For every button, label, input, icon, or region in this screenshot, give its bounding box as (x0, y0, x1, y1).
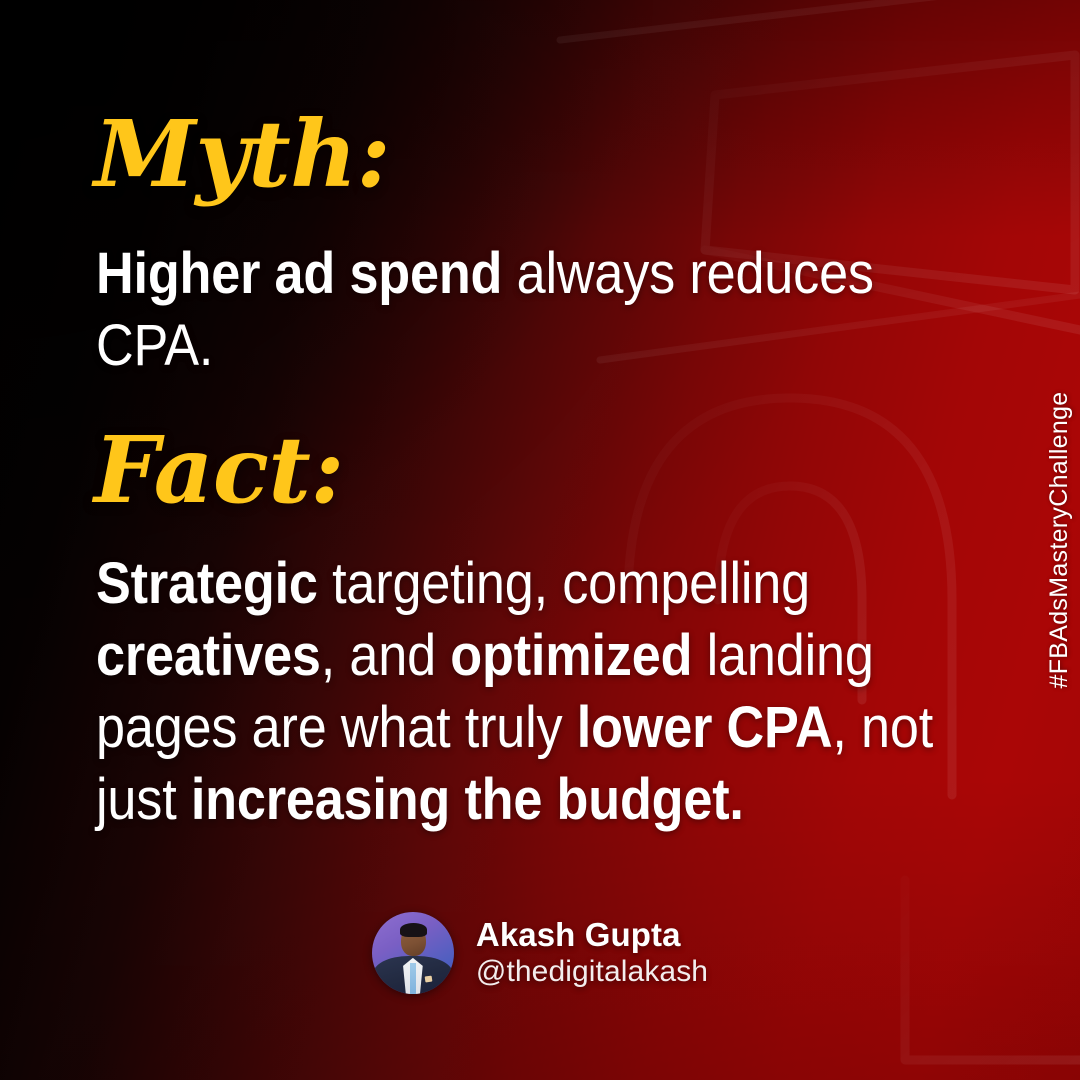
author-name: Akash Gupta (476, 917, 708, 953)
myth-body-text: Higher ad spend always reduces CPA. (96, 238, 978, 382)
fact-body-text: Strategic targeting, compelling creative… (96, 548, 978, 836)
text-run-1: targeting, compelling (318, 551, 810, 616)
avatar-pocket-square (425, 975, 433, 982)
text-run-4: optimized (450, 623, 692, 688)
text-run-8: increasing the budget. (191, 767, 744, 832)
text-run-2: creatives (96, 623, 321, 688)
text-run-0: Strategic (96, 551, 318, 616)
author-handle: @thedigitalakash (476, 956, 708, 988)
avatar-hair (400, 923, 427, 936)
text-run-0: Higher ad spend (96, 241, 502, 306)
social-card: Myth: Higher ad spend always reduces CPA… (0, 0, 1080, 1080)
text-run-3: , and (321, 623, 451, 688)
fact-heading: Fact: (94, 424, 344, 516)
author-block: Akash Gupta @thedigitalakash (0, 912, 1080, 994)
hashtag-label: #FBAdsMasteryChallenge (1045, 391, 1074, 688)
myth-heading: Myth: (94, 108, 390, 200)
avatar-tie (410, 963, 416, 994)
text-run-6: lower CPA (577, 695, 833, 760)
avatar (372, 912, 454, 994)
author-text: Akash Gupta @thedigitalakash (476, 917, 708, 988)
